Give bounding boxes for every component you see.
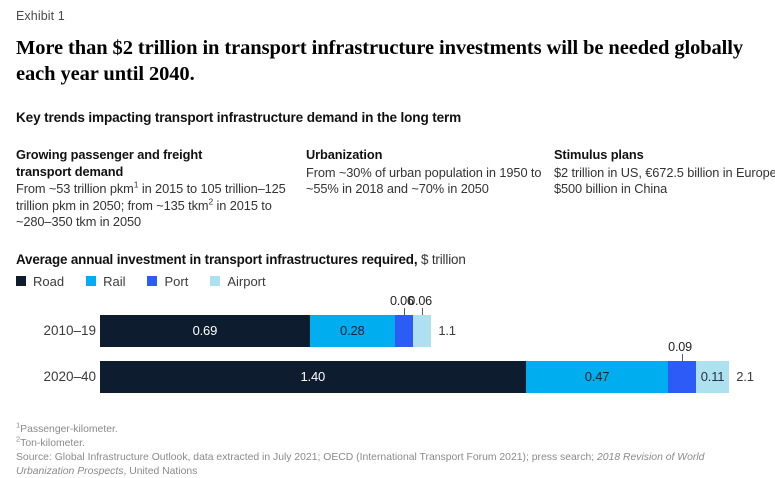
legend-item-road: Road <box>16 274 64 289</box>
bar-segment-rail[interactable]: 0.28 <box>310 315 395 347</box>
trend-title-line-2: transport demand <box>16 164 123 179</box>
legend-swatch-road <box>16 276 26 286</box>
bar-row-label: 2010–19 <box>16 315 96 347</box>
section-subheading: Key trends impacting transport infrastru… <box>16 110 759 125</box>
bar-segment-value: 0.47 <box>585 369 610 384</box>
footnotes: 1Passenger-kilometer. 2Ton-kilometer. So… <box>16 423 758 478</box>
chart-legend: Road Rail Port Airport <box>16 274 759 289</box>
legend-item-rail: Rail <box>86 274 125 289</box>
chart-title: Average annual investment in transport i… <box>16 252 759 267</box>
bar-row-2010-19: 2010–19 0.69 0.28 1.1 <box>16 315 759 347</box>
trend-columns: Growing passenger and freight transport … <box>16 147 759 231</box>
chart: Average annual investment in transport i… <box>16 252 759 403</box>
bar-segment-value: 1.40 <box>301 369 326 384</box>
source-note-part-2: , United Nations <box>123 466 197 477</box>
bar-segment-rail[interactable]: 0.47 <box>526 361 669 393</box>
trend-title: Urbanization <box>306 147 554 164</box>
bar-segment-value: 0.11 <box>701 369 725 384</box>
legend-item-airport: Airport <box>210 274 265 289</box>
exhibit-label: Exhibit 1 <box>16 0 759 23</box>
bar-segment-value: 0.69 <box>193 323 218 338</box>
trend-title: Stimulus plans <box>554 147 775 164</box>
trend-column-growing-demand: Growing passenger and freight transport … <box>16 147 306 231</box>
chart-title-text: Average annual investment in transport i… <box>16 252 417 267</box>
callout-leader-1 <box>422 308 423 315</box>
trend-column-stimulus-plans: Stimulus plans $2 trillion in US, €672.5… <box>554 147 775 231</box>
trend-title-line-1: Growing passenger and freight <box>16 147 202 162</box>
source-note-part-1: Source: Global Infrastructure Outlook, d… <box>16 452 597 463</box>
footnote-1: 1Passenger-kilometer. <box>16 423 758 437</box>
trend-body: From ~53 trillion pkm1 in 2015 to 105 tr… <box>16 181 306 231</box>
chart-plot-area: 0.06 0.06 0.09 2010–19 0.69 0.28 1.1 202… <box>16 299 759 403</box>
trend-body: $2 trillion in US, €672.5 billion in Eur… <box>554 165 775 198</box>
trend-body-part-1: From ~53 trillion pkm <box>16 181 134 196</box>
bar-row-label: 2020–40 <box>16 361 96 393</box>
bar-segment-airport[interactable]: 0.11 <box>696 361 729 393</box>
legend-label-road: Road <box>33 274 64 289</box>
callout-leader-0 <box>404 308 405 315</box>
trend-body: From ~30% of urban population in 1950 to… <box>306 165 554 198</box>
bar-track: 0.69 0.28 1.1 <box>100 315 431 347</box>
footnote-2: 2Ton-kilometer. <box>16 437 758 451</box>
source-note: Source: Global Infrastructure Outlook, d… <box>16 451 758 478</box>
bar-segment-port[interactable] <box>668 361 695 393</box>
bar-total-label: 2.1 <box>736 361 753 393</box>
footnote-2-text: Ton-kilometer. <box>20 438 85 449</box>
callout-leader-2 <box>682 354 683 361</box>
legend-label-airport: Airport <box>227 274 265 289</box>
bar-segment-port[interactable] <box>395 315 413 347</box>
bar-segment-road[interactable]: 0.69 <box>100 315 310 347</box>
bar-track: 1.40 0.47 0.11 2.1 <box>100 361 729 393</box>
bar-segment-value: 0.28 <box>340 323 365 338</box>
chart-title-unit: $ trillion <box>417 252 465 267</box>
legend-label-rail: Rail <box>103 274 125 289</box>
legend-swatch-rail <box>86 276 96 286</box>
trend-title: Growing passenger and freight transport … <box>16 147 306 180</box>
bar-segment-airport[interactable] <box>413 315 431 347</box>
bar-row-2020-40: 2020–40 1.40 0.47 0.11 2.1 <box>16 361 759 393</box>
trend-column-urbanization: Urbanization From ~30% of urban populati… <box>306 147 554 231</box>
callout-label-1: 0.06 <box>408 294 432 308</box>
legend-label-port: Port <box>164 274 188 289</box>
bar-total-label: 1.1 <box>438 315 455 347</box>
legend-item-port: Port <box>147 274 188 289</box>
page-title: More than $2 trillion in transport infra… <box>16 35 756 87</box>
legend-swatch-port <box>147 276 157 286</box>
bar-segment-road[interactable]: 1.40 <box>100 361 526 393</box>
exhibit-page: Exhibit 1 More than $2 trillion in trans… <box>0 0 775 477</box>
legend-swatch-airport <box>210 276 220 286</box>
footnote-1-text: Passenger-kilometer. <box>20 424 118 435</box>
